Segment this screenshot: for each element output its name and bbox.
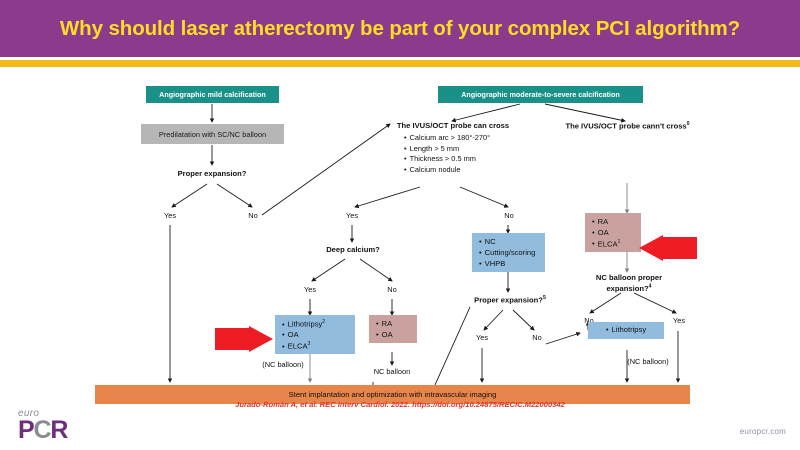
title-accent-bar [0, 60, 800, 67]
criteria-item: Length > 5 mm [404, 144, 534, 155]
treatment-item: OA [376, 330, 410, 341]
edge-label-yes-nc: Yes [665, 316, 693, 325]
edge-label-yes-cancross: Yes [338, 211, 366, 220]
node-nc-balloon-proper-expansion: NC balloon proper expansion?4 [577, 272, 681, 294]
slide-canvas: Why should laser atherectomy be part of … [0, 0, 800, 450]
criteria-item: Calcium arc > 180°-270° [404, 133, 534, 144]
node-probe-can-cross-title: The IVUS/OCT probe can cross [388, 121, 518, 130]
node-label: Proper expansion? [178, 169, 247, 178]
node-proper-expansion-left: Proper expansion? [162, 169, 262, 178]
node-label: Angiographic moderate-to-severe calcific… [461, 90, 620, 99]
superscript-marker: 0 [687, 121, 690, 127]
edge-label-deep-no: No [378, 285, 406, 294]
logo-pcr-text: PCR [18, 419, 88, 443]
edge-label-pe-no: No [523, 333, 551, 342]
node-label: Predilatation with SC/NC balloon [159, 130, 266, 139]
treatment-item: Lithotripsy2 [282, 319, 348, 330]
citation-text: Jurado-Román A, et al. REC Interv Cardio… [0, 400, 800, 409]
callout-arrow-deep-yes-icon [213, 325, 275, 353]
node-deep-yes-treatments: Lithotripsy2 OA ELCA3 [275, 315, 355, 354]
treatment-item: VHPB [479, 259, 538, 270]
website-url: europcr.com [740, 427, 786, 436]
node-probe-cannot-cross-title: The IVUS/OCT probe cann't cross0 [556, 121, 699, 131]
treatment-item: OA [282, 330, 348, 341]
node-no-path-treatments: NC Cutting/scoring VHPB [472, 233, 545, 272]
edge-label-deep-yes: Yes [296, 285, 324, 294]
treatment-item: ELCA1 [592, 239, 634, 250]
node-probe-can-cross-criteria: Calcium arc > 180°-270° Length > 5 mm Th… [404, 133, 534, 176]
edge-label-nc-balloon-deep-yes: (NC balloon) [243, 360, 323, 369]
criteria-item: Thickness > 0.5 mm [404, 154, 534, 165]
node-deep-no-treatments: RA OA [369, 315, 417, 343]
node-label: Angiographic mild calcification [159, 90, 266, 99]
treatment-item: ELCA3 [282, 341, 348, 352]
treatment-item: Cutting/scoring [479, 248, 538, 259]
treatment-item: OA [592, 228, 634, 239]
edge-label-no-cancross: No [495, 211, 523, 220]
edge-label-nc-balloon-deep-no: NC balloon [361, 367, 423, 376]
flowchart: Angiographic mild calcification Predilat… [0, 67, 800, 397]
treatment-item: RA [376, 319, 410, 330]
node-predilatation: Predilatation with SC/NC balloon [141, 124, 284, 144]
treatment-item: Lithotripsy [606, 325, 646, 336]
node-deep-calcium-decision: Deep calcium? [310, 245, 396, 254]
edge-label-yes-left: Yes [155, 211, 185, 220]
criteria-item: Calcium nodule [404, 165, 534, 176]
flowchart-edges [0, 67, 800, 397]
callout-arrow-cannot-cross-icon [637, 234, 699, 262]
node-label: Stent implantation and optimization with… [289, 390, 497, 399]
node-proper-expansion-decision-mid: Proper expansion?5 [458, 295, 562, 305]
europcr-logo: euro PCR [18, 409, 88, 445]
treatment-item: NC [479, 237, 538, 248]
edge-label-nc-balloon-right: (NC balloon) [608, 357, 688, 366]
slide-title-bar: Why should laser atherectomy be part of … [0, 0, 800, 57]
node-angiographic-moderate-severe-calcification: Angiographic moderate-to-severe calcific… [438, 86, 643, 103]
edge-label-pe-yes: Yes [468, 333, 496, 342]
page-title: Why should laser atherectomy be part of … [60, 17, 740, 41]
node-lithotripsy-right: Lithotripsy [588, 322, 664, 339]
node-cannot-cross-treatments: RA OA ELCA1 [585, 213, 641, 252]
node-angiographic-mild-calcification: Angiographic mild calcification [146, 86, 279, 103]
treatment-item: RA [592, 217, 634, 228]
edge-label-no-left: No [238, 211, 268, 220]
